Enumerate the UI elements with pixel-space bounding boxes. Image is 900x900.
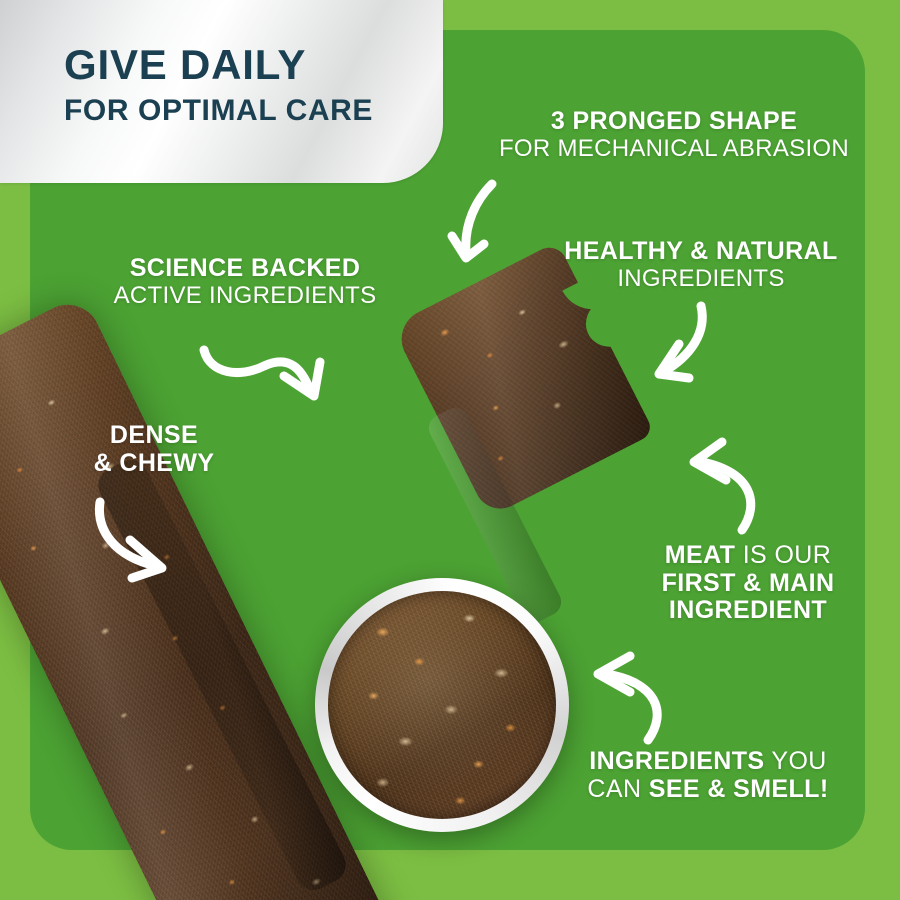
curved-arrow-up-left-icon <box>676 438 774 536</box>
callout-line-2: FIRST & MAIN <box>628 570 868 598</box>
callout-line-1: INGREDIENTS YOU <box>556 748 860 776</box>
callout-line-1: MEAT IS OUR <box>628 542 868 570</box>
page-title: GIVE DAILY <box>64 44 373 86</box>
magnifier-texture-closeup <box>328 591 556 819</box>
give-daily-badge: GIVE DAILY FOR OPTIMAL CARE <box>0 0 443 183</box>
callout-bold-line: DENSE <box>50 422 258 450</box>
callout-light-span: IS OUR <box>735 541 831 569</box>
curved-arrow-down-left-icon <box>645 300 723 388</box>
magnifier-closeup-circle <box>315 578 569 832</box>
callout-line-2: CAN SEE & SMELL! <box>556 776 860 804</box>
callout-bold-line: 3 PRONGED SHAPE <box>498 108 850 136</box>
curved-arrow-up-left-icon <box>586 654 678 744</box>
callout-second-line: & CHEWY <box>50 450 258 478</box>
callout-bold-span: MEAT <box>665 541 736 569</box>
callout-light-line: FOR MECHANICAL ABRASION <box>498 136 850 162</box>
curved-arrow-down-icon <box>446 178 510 274</box>
callout-meat-first-and-main: MEAT IS OUR FIRST & MAIN INGREDIENT <box>628 542 868 625</box>
callout-light-line: INGREDIENTS <box>552 266 850 292</box>
callout-light-span: CAN <box>587 775 648 803</box>
promo-graphic: GIVE DAILY FOR OPTIMAL CARE 3 PRONGED SH… <box>0 0 900 900</box>
callout-science-backed: SCIENCE BACKED ACTIVE INGREDIENTS <box>98 255 392 309</box>
callout-bold-line: HEALTHY & NATURAL <box>552 238 850 266</box>
curved-arrow-down-right-icon <box>92 496 184 584</box>
callout-bold-span: SEE & SMELL! <box>649 775 829 803</box>
page-subtitle: FOR OPTIMAL CARE <box>64 96 373 126</box>
callout-light-line: ACTIVE INGREDIENTS <box>98 283 392 309</box>
badge-text-block: GIVE DAILY FOR OPTIMAL CARE <box>64 44 373 126</box>
callout-line-3: INGREDIENT <box>628 597 868 625</box>
callout-ingredients-see-and-smell: INGREDIENTS YOU CAN SEE & SMELL! <box>556 748 860 803</box>
callout-bold-line: SCIENCE BACKED <box>98 255 392 283</box>
callout-dense-and-chewy: DENSE & CHEWY <box>50 422 258 477</box>
callout-three-pronged-shape: 3 PRONGED SHAPE FOR MECHANICAL ABRASION <box>498 108 850 162</box>
callout-light-span: YOU <box>764 747 826 775</box>
callout-healthy-and-natural: HEALTHY & NATURAL INGREDIENTS <box>552 238 850 292</box>
callout-bold-span: INGREDIENTS <box>589 747 764 775</box>
curved-arrow-right-icon <box>198 338 330 418</box>
